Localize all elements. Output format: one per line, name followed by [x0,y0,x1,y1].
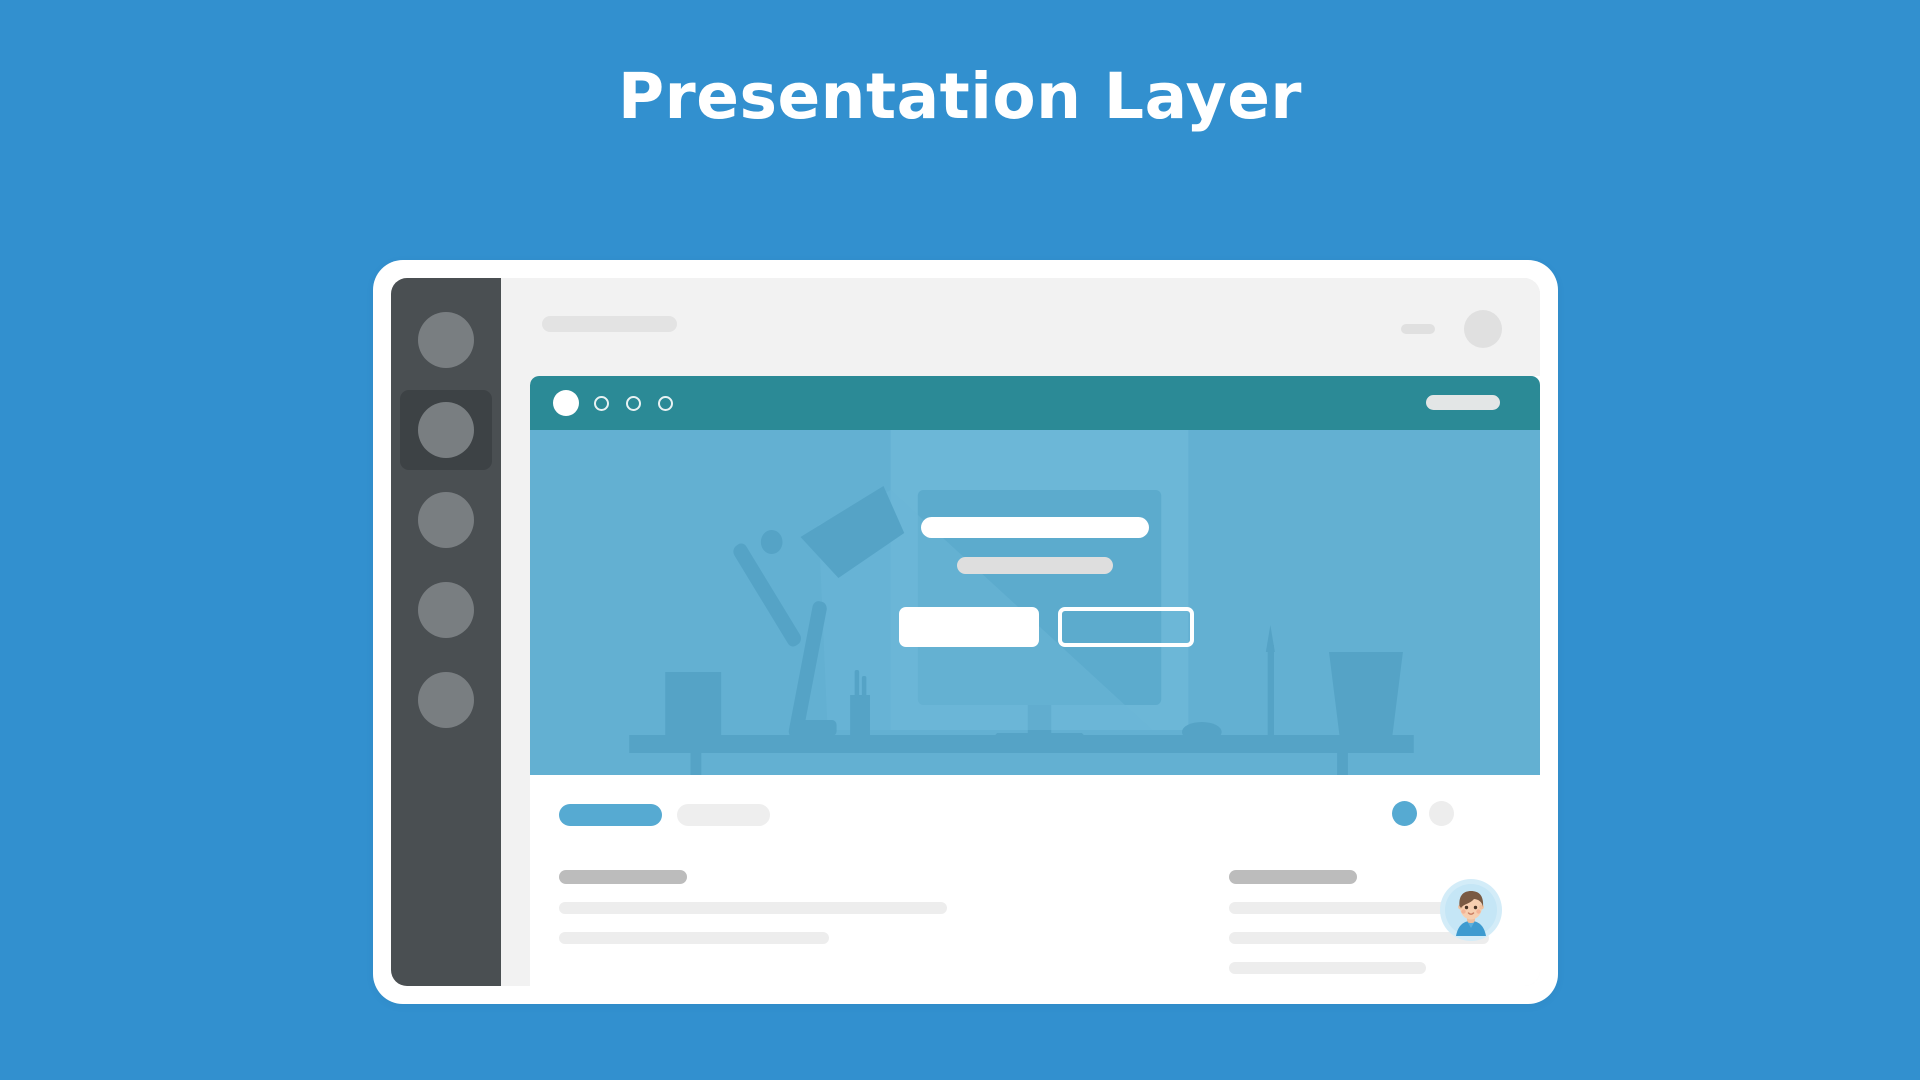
sidebar-item-5[interactable] [391,655,501,745]
device-screen [391,278,1540,986]
user-avatar-icon[interactable] [1440,879,1502,941]
sidebar-icon-1-icon [418,312,474,368]
content-columns [530,833,1540,974]
left-title-placeholder [559,870,687,884]
sidebar-icon-3-icon [418,492,474,548]
tabs-row [530,797,1540,833]
hero-secondary-button[interactable] [1058,607,1194,647]
pager-dot-1[interactable] [1392,801,1417,826]
app-title-placeholder [542,316,677,332]
sidebar-item-2[interactable] [391,385,501,475]
left-body-line-2 [559,932,829,944]
browser-window [530,376,1540,986]
sidebar-item-4[interactable] [391,565,501,655]
app-sidebar [391,278,501,986]
app-topbar [501,278,1540,376]
app-main-area [501,278,1540,986]
account-avatar-icon[interactable] [1464,310,1502,348]
pager-dot-2[interactable] [1429,801,1454,826]
content-column-left [559,870,1139,974]
browser-tab-active-icon[interactable] [553,390,579,416]
right-title-placeholder [1229,870,1357,884]
device-frame [373,260,1558,1004]
sidebar-item-1[interactable] [391,295,501,385]
hero-content [735,517,1335,647]
page-title: Presentation Layer [0,62,1920,131]
minimize-icon[interactable] [1401,324,1435,334]
left-body-line-1 [559,902,947,914]
browser-dot-1-icon[interactable] [594,396,609,411]
right-body-line-3 [1229,962,1426,974]
hero-subheadline-placeholder [957,557,1113,574]
hero-headline-placeholder [921,517,1149,538]
sidebar-icon-2-icon [418,402,474,458]
browser-url-bar[interactable] [1426,395,1500,410]
browser-dot-2-icon[interactable] [626,396,641,411]
pagination [1392,801,1454,826]
hero-primary-button[interactable] [899,607,1039,647]
content-section [530,775,1540,986]
browser-dot-3-icon[interactable] [658,396,673,411]
tab-inactive[interactable] [677,804,770,826]
hero-button-group [899,607,1335,647]
browser-toolbar [530,376,1540,430]
hero-section [530,430,1540,775]
sidebar-icon-4-icon [418,582,474,638]
sidebar-icon-5-icon [418,672,474,728]
sidebar-item-3[interactable] [391,475,501,565]
tab-active[interactable] [559,804,662,826]
